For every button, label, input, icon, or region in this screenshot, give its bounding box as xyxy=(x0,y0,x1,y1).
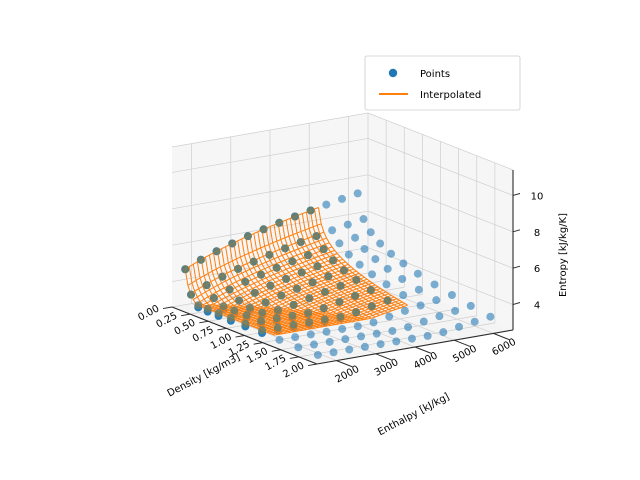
x-tickmark xyxy=(163,307,172,309)
data-point-on-surface xyxy=(307,206,315,214)
z-tick-label: 10 xyxy=(531,192,544,203)
data-point-on-surface xyxy=(213,247,221,255)
data-point xyxy=(344,221,352,229)
data-point-on-surface xyxy=(367,286,375,294)
data-point-on-surface xyxy=(274,306,282,314)
data-point xyxy=(368,270,376,278)
data-point-on-surface xyxy=(241,278,249,286)
x-tickmark xyxy=(308,364,317,366)
data-point-on-surface xyxy=(260,225,268,233)
data-point xyxy=(275,336,283,344)
data-point xyxy=(467,302,475,310)
data-point xyxy=(328,226,336,234)
data-point-on-surface xyxy=(227,314,235,322)
data-point xyxy=(326,338,334,346)
data-point-on-surface xyxy=(313,262,321,270)
x-tickmark xyxy=(181,314,190,316)
z-tick-label: 8 xyxy=(534,228,540,239)
data-point-on-surface xyxy=(352,276,360,284)
data-point-on-surface xyxy=(244,232,252,240)
data-point xyxy=(398,275,406,283)
data-point xyxy=(338,325,346,333)
data-point xyxy=(399,291,407,299)
data-point-on-surface xyxy=(304,309,312,317)
data-point xyxy=(383,280,391,288)
data-point xyxy=(335,239,343,247)
data-point xyxy=(424,332,432,340)
x-tickmark xyxy=(199,321,208,323)
data-point xyxy=(404,323,412,331)
data-point-on-surface xyxy=(241,320,249,328)
data-point xyxy=(361,343,369,351)
data-point xyxy=(384,265,392,273)
data-point xyxy=(323,328,331,336)
z-tickmark xyxy=(513,194,520,196)
data-point xyxy=(310,341,318,349)
data-point-on-surface xyxy=(234,265,242,273)
data-point-on-surface xyxy=(335,298,343,306)
data-point-on-surface xyxy=(340,266,348,274)
data-point xyxy=(401,307,409,315)
data-point-on-surface xyxy=(281,244,289,252)
data-point-on-surface xyxy=(337,282,345,290)
data-point-on-surface xyxy=(274,324,282,332)
x-tickmark xyxy=(272,350,281,352)
data-point xyxy=(351,234,359,242)
z-tickmark xyxy=(513,266,520,268)
data-point-on-surface xyxy=(320,245,328,253)
data-point-on-surface xyxy=(203,281,211,289)
data-point xyxy=(439,328,447,336)
data-point-on-surface xyxy=(219,302,227,310)
data-point xyxy=(367,228,375,236)
data-point-on-surface xyxy=(210,294,218,302)
data-point-on-surface xyxy=(336,313,344,321)
data-point-on-surface xyxy=(235,297,243,305)
data-point-on-surface xyxy=(187,291,195,299)
data-point-on-surface xyxy=(258,326,266,334)
data-point xyxy=(338,195,346,203)
data-point-on-surface xyxy=(288,312,296,320)
data-point-on-surface xyxy=(250,258,258,266)
data-point-on-surface xyxy=(304,251,312,259)
data-point xyxy=(359,215,367,223)
data-point xyxy=(414,270,422,278)
data-point xyxy=(385,313,393,321)
data-point-on-surface xyxy=(321,288,329,296)
data-point-on-surface xyxy=(265,251,273,259)
z-tick-label: 4 xyxy=(534,301,540,312)
data-point xyxy=(387,250,395,258)
data-point xyxy=(341,335,349,343)
data-point-on-surface xyxy=(368,302,376,310)
data-point-on-surface xyxy=(309,278,317,286)
data-point-on-surface xyxy=(305,318,313,326)
data-point-on-surface xyxy=(290,301,298,309)
data-point-on-surface xyxy=(289,321,297,329)
data-point xyxy=(345,251,353,259)
x-tickmark xyxy=(217,328,226,330)
data-point-on-surface xyxy=(288,257,296,265)
data-point xyxy=(388,327,396,335)
data-point-on-surface xyxy=(298,268,306,276)
y-tick-label: 3000 xyxy=(373,357,401,379)
data-point-on-surface xyxy=(384,297,392,305)
data-point xyxy=(314,351,322,359)
data-point xyxy=(307,330,315,338)
data-point-on-surface xyxy=(243,311,251,319)
data-point-on-surface xyxy=(320,304,328,312)
y-tick-label: 4000 xyxy=(412,350,440,372)
data-point-on-surface xyxy=(230,306,238,314)
data-point xyxy=(360,245,368,253)
3d-scatter-plot: 0.000.250.500.751.001.251.501.752.002000… xyxy=(0,0,640,480)
data-point xyxy=(392,337,400,345)
z-tickmark xyxy=(513,303,520,305)
data-point xyxy=(415,286,423,294)
data-point-on-surface xyxy=(246,304,254,312)
data-point-on-surface xyxy=(257,317,265,325)
data-point-on-surface xyxy=(329,256,337,264)
data-point-on-surface xyxy=(251,289,259,297)
data-point-on-surface xyxy=(305,294,313,302)
data-point-on-surface xyxy=(215,309,223,317)
x-tickmark xyxy=(290,357,299,359)
z-tick-label: 6 xyxy=(534,264,540,275)
data-point xyxy=(448,291,456,299)
z-axis-title: Entropy [kJ/kg/K] xyxy=(558,213,569,297)
data-point xyxy=(420,318,428,326)
data-point-on-surface xyxy=(197,256,205,264)
data-point xyxy=(370,318,378,326)
x-tickmark xyxy=(254,343,263,345)
data-point xyxy=(354,322,362,330)
data-point-on-surface xyxy=(297,238,305,246)
y-axis-title: Enthalpy [kJ/kg] xyxy=(376,391,451,438)
data-point xyxy=(354,189,362,197)
data-point xyxy=(377,340,385,348)
data-point xyxy=(451,307,459,315)
data-point xyxy=(399,259,407,267)
data-point-on-surface xyxy=(258,309,266,317)
x-axis-title: Density [kg/m3] xyxy=(166,352,242,400)
data-point-on-surface xyxy=(321,315,329,323)
data-point-on-surface xyxy=(218,273,226,281)
data-point-on-surface xyxy=(226,286,234,294)
data-point xyxy=(357,332,365,340)
y-tick-label: 5000 xyxy=(451,343,479,365)
data-point-on-surface xyxy=(275,219,283,227)
legend-label-interpolated: Interpolated xyxy=(420,90,481,101)
data-point xyxy=(486,313,494,321)
data-point xyxy=(435,312,443,320)
legend-box xyxy=(365,56,520,110)
y-tick-label: 2000 xyxy=(334,364,362,386)
data-point xyxy=(371,255,379,263)
data-point xyxy=(408,335,416,343)
data-point xyxy=(431,280,439,288)
data-point-on-surface xyxy=(312,232,320,240)
data-point-on-surface xyxy=(228,239,236,247)
legend-marker-points xyxy=(389,69,397,77)
data-point-on-surface xyxy=(273,264,281,272)
x-tickmark xyxy=(235,336,244,338)
data-point xyxy=(455,323,463,331)
data-point xyxy=(417,301,425,309)
data-point-on-surface xyxy=(262,299,270,307)
data-point xyxy=(291,333,299,341)
legend-label-points: Points xyxy=(420,69,450,80)
data-point xyxy=(471,318,479,326)
data-point-on-surface xyxy=(351,292,359,300)
data-point-on-surface xyxy=(352,308,360,316)
data-point xyxy=(322,201,330,209)
data-point xyxy=(356,261,364,269)
data-point-on-surface xyxy=(293,285,301,293)
data-point-on-surface xyxy=(266,282,274,290)
figure-canvas: 0.000.250.500.751.001.251.501.752.002000… xyxy=(0,0,640,480)
data-point-on-surface xyxy=(194,301,202,309)
data-point-on-surface xyxy=(282,275,290,283)
data-point-on-surface xyxy=(324,272,332,280)
data-point xyxy=(432,296,440,304)
data-point-on-surface xyxy=(277,292,285,300)
data-point-on-surface xyxy=(181,265,189,273)
z-tickmark xyxy=(513,230,520,232)
data-point xyxy=(373,330,381,338)
legend: PointsInterpolated xyxy=(365,56,520,110)
y-tick-label: 6000 xyxy=(490,337,518,359)
data-point xyxy=(330,348,338,356)
data-point-on-surface xyxy=(291,213,299,221)
data-point xyxy=(345,346,353,354)
data-point-on-surface xyxy=(273,314,281,322)
data-point-on-surface xyxy=(257,271,265,279)
data-point-on-surface xyxy=(204,305,212,313)
data-point xyxy=(294,343,302,351)
data-point xyxy=(376,240,384,248)
